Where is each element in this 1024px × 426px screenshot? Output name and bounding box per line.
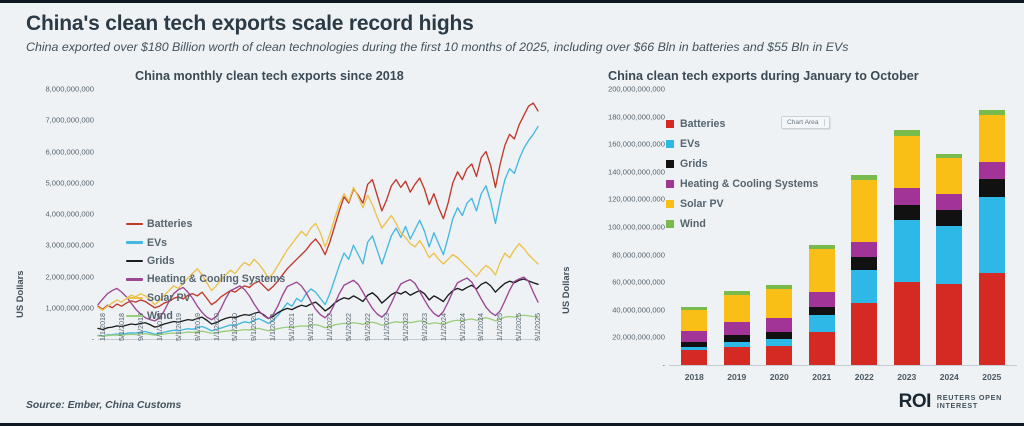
bar-segment-heating-cooling-systems[interactable] bbox=[979, 162, 1005, 179]
left-y-tick: 6,000,000,000 bbox=[22, 147, 94, 156]
bar-segment-batteries[interactable] bbox=[724, 347, 750, 365]
left-legend: BatteriesEVsGridsHeating & Cooling Syste… bbox=[126, 215, 285, 325]
legend-line-swatch-icon bbox=[126, 241, 143, 243]
legend-color-swatch-icon bbox=[666, 200, 674, 208]
roi-tagline-line2: INTEREST bbox=[937, 402, 1002, 411]
bar-segment-solar-pv[interactable] bbox=[979, 115, 1005, 162]
bar-segment-heating-cooling-systems[interactable] bbox=[809, 292, 835, 307]
legend-item-evs[interactable]: EVs bbox=[666, 134, 818, 154]
left-x-tick: 9/1/2022 bbox=[363, 313, 372, 341]
left-x-axis: 1/1/20185/1/20189/1/20181/1/20195/1/2019… bbox=[98, 341, 538, 401]
bar-segment-solar-pv[interactable] bbox=[936, 158, 962, 194]
right-y-tick: 180,000,000,000 bbox=[555, 112, 665, 121]
left-x-tick: 1/1/2023 bbox=[382, 313, 391, 341]
right-y-tick: 140,000,000,000 bbox=[555, 167, 665, 176]
right-x-tick: 2019 bbox=[727, 372, 746, 382]
bar-segment-solar-pv[interactable] bbox=[724, 295, 750, 323]
left-axis-baseline bbox=[98, 339, 538, 340]
bar-segment-batteries[interactable] bbox=[681, 350, 707, 365]
left-x-tick: 9/1/2021 bbox=[306, 313, 315, 341]
bar-segment-evs[interactable] bbox=[809, 315, 835, 332]
legend-label: Grids bbox=[680, 158, 708, 170]
left-x-tick: 9/1/2024 bbox=[476, 313, 485, 341]
legend-label: Wind bbox=[147, 310, 173, 322]
bar-segment-wind[interactable] bbox=[724, 291, 750, 295]
roi-wordmark: ROI bbox=[899, 391, 931, 413]
right-x-tick: 2023 bbox=[897, 372, 916, 382]
right-y-axis: -20,000,000,00040,000,000,00060,000,000,… bbox=[555, 89, 665, 365]
right-x-axis: 20182019202020212022202320242025 bbox=[673, 368, 1013, 390]
legend-label: Heating & Cooling Systems bbox=[147, 273, 285, 285]
left-x-tick: 5/1/2025 bbox=[514, 313, 523, 341]
bar-segment-wind[interactable] bbox=[766, 285, 792, 289]
bar-segment-heating-cooling-systems[interactable] bbox=[936, 194, 962, 211]
bar-segment-batteries[interactable] bbox=[894, 282, 920, 365]
bar-segment-grids[interactable] bbox=[681, 342, 707, 348]
left-x-tick: 5/1/2023 bbox=[401, 313, 410, 341]
legend-color-swatch-icon bbox=[666, 120, 674, 128]
legend-item-batteries[interactable]: Batteries bbox=[126, 215, 285, 233]
left-x-tick: 1/1/2025 bbox=[495, 313, 504, 341]
left-x-tick: 5/1/2021 bbox=[287, 313, 296, 341]
legend-label: EVs bbox=[680, 138, 700, 150]
left-x-tick: 1/1/2022 bbox=[325, 313, 334, 341]
bar-segment-evs[interactable] bbox=[766, 339, 792, 346]
left-x-tick: 5/1/2018 bbox=[117, 313, 126, 341]
right-y-tick: 80,000,000,000 bbox=[555, 250, 665, 259]
infographic-frame: China's clean tech exports scale record … bbox=[0, 0, 1024, 426]
legend-item-grids[interactable]: Grids bbox=[126, 252, 285, 270]
bar-segment-grids[interactable] bbox=[894, 205, 920, 220]
legend-color-swatch-icon bbox=[666, 140, 674, 148]
bar-segment-wind[interactable] bbox=[936, 154, 962, 158]
bar-segment-heating-cooling-systems[interactable] bbox=[724, 322, 750, 334]
left-x-tick: 1/1/2024 bbox=[439, 313, 448, 341]
bar-segment-grids[interactable] bbox=[766, 332, 792, 339]
bar-segment-grids[interactable] bbox=[724, 335, 750, 342]
source-note: Source: Ember, China Customs bbox=[26, 400, 181, 411]
roi-tagline: REUTERS OPEN INTEREST bbox=[937, 394, 1002, 411]
right-y-tick: 60,000,000,000 bbox=[555, 278, 665, 287]
right-y-tick: 100,000,000,000 bbox=[555, 223, 665, 232]
bar-segment-wind[interactable] bbox=[681, 307, 707, 310]
legend-item-solar-pv[interactable]: Solar PV bbox=[126, 289, 285, 307]
bar-segment-evs[interactable] bbox=[936, 226, 962, 284]
bar-segment-evs[interactable] bbox=[681, 347, 707, 350]
right-axis-baseline bbox=[669, 365, 1017, 366]
right-chart-title: China clean tech exports during January … bbox=[608, 69, 919, 83]
left-x-tick: 9/1/2023 bbox=[420, 313, 429, 341]
bar-segment-grids[interactable] bbox=[936, 210, 962, 225]
bar-segment-evs[interactable] bbox=[851, 270, 877, 303]
legend-label: Batteries bbox=[680, 118, 725, 130]
right-y-tick: 120,000,000,000 bbox=[555, 195, 665, 204]
legend-color-swatch-icon bbox=[666, 180, 674, 188]
legend-label: EVs bbox=[147, 237, 167, 249]
bar-segment-evs[interactable] bbox=[979, 197, 1005, 273]
bar-segment-batteries[interactable] bbox=[851, 303, 877, 365]
left-chart: US Dollars -1,000,000,0002,000,000,0003,… bbox=[0, 89, 545, 389]
left-y-tick: 2,000,000,000 bbox=[22, 272, 94, 281]
left-chart-title: China monthly clean tech exports since 2… bbox=[135, 69, 404, 83]
bar-segment-heating-cooling-systems[interactable] bbox=[894, 188, 920, 205]
bar-segment-heating-cooling-systems[interactable] bbox=[766, 318, 792, 332]
bar-segment-batteries[interactable] bbox=[809, 332, 835, 365]
bar-segment-wind[interactable] bbox=[809, 245, 835, 249]
left-x-tick: 5/1/2024 bbox=[458, 313, 467, 341]
right-x-tick: 2020 bbox=[770, 372, 789, 382]
left-x-tick: 9/1/2025 bbox=[533, 313, 542, 341]
left-y-tick: 4,000,000,000 bbox=[22, 210, 94, 219]
legend-line-swatch-icon bbox=[126, 260, 143, 262]
legend-color-swatch-icon bbox=[666, 160, 674, 168]
header: China's clean tech exports scale record … bbox=[26, 11, 1014, 55]
bar-2022[interactable] bbox=[851, 89, 877, 365]
bar-segment-batteries[interactable] bbox=[936, 284, 962, 365]
right-y-tick: 20,000,000,000 bbox=[555, 333, 665, 342]
right-y-tick: 160,000,000,000 bbox=[555, 140, 665, 149]
left-y-tick: 7,000,000,000 bbox=[22, 116, 94, 125]
bar-segment-evs[interactable] bbox=[724, 342, 750, 348]
bar-segment-solar-pv[interactable] bbox=[894, 136, 920, 188]
legend-item-wind[interactable]: Wind bbox=[126, 307, 285, 325]
right-y-tick: - bbox=[555, 361, 665, 370]
page-subtitle: China exported over $180 Billion worth o… bbox=[26, 40, 1014, 55]
page-title: China's clean tech exports scale record … bbox=[26, 11, 1014, 37]
legend-label: Solar PV bbox=[680, 198, 724, 210]
left-y-tick: 8,000,000,000 bbox=[22, 85, 94, 94]
roi-logo: ROI REUTERS OPEN INTEREST bbox=[899, 391, 1002, 413]
bar-2023[interactable] bbox=[894, 89, 920, 365]
left-y-tick: - bbox=[22, 335, 94, 344]
bar-segment-wind[interactable] bbox=[851, 175, 877, 181]
bar-segment-evs[interactable] bbox=[894, 220, 920, 282]
bar-segment-heating-cooling-systems[interactable] bbox=[851, 242, 877, 257]
left-x-tick: 5/1/2022 bbox=[344, 313, 353, 341]
legend-line-swatch-icon bbox=[126, 223, 143, 225]
legend-line-swatch-icon bbox=[126, 297, 143, 299]
right-x-tick: 2021 bbox=[812, 372, 831, 382]
legend-label: Solar PV bbox=[147, 292, 191, 304]
legend-label: Grids bbox=[147, 255, 175, 267]
legend-item-solar-pv[interactable]: Solar PV bbox=[666, 194, 818, 214]
bar-segment-solar-pv[interactable] bbox=[809, 249, 835, 292]
legend-label: Batteries bbox=[147, 218, 192, 230]
right-chart: US Dollars -20,000,000,00040,000,000,000… bbox=[545, 89, 1024, 389]
left-y-axis: -1,000,000,0002,000,000,0003,000,000,000… bbox=[22, 89, 94, 339]
bar-2025[interactable] bbox=[979, 89, 1005, 365]
right-y-tick: 200,000,000,000 bbox=[555, 85, 665, 94]
bar-segment-solar-pv[interactable] bbox=[681, 310, 707, 331]
bar-segment-grids[interactable] bbox=[979, 179, 1005, 197]
legend-label: Wind bbox=[680, 218, 706, 230]
right-y-tick: 40,000,000,000 bbox=[555, 305, 665, 314]
legend-line-swatch-icon bbox=[126, 278, 143, 280]
bar-segment-heating-cooling-systems[interactable] bbox=[681, 331, 707, 342]
left-x-tick: 1/1/2018 bbox=[98, 313, 107, 341]
right-x-tick: 2018 bbox=[685, 372, 704, 382]
legend-item-grids[interactable]: Grids bbox=[666, 154, 818, 174]
bar-segment-wind[interactable] bbox=[979, 110, 1005, 116]
chart-area-tooltip: Chart Area bbox=[781, 116, 830, 129]
legend-item-heating-cooling-systems[interactable]: Heating & Cooling Systems bbox=[126, 270, 285, 288]
right-x-tick: 2022 bbox=[855, 372, 874, 382]
bar-segment-batteries[interactable] bbox=[766, 346, 792, 365]
bar-segment-solar-pv[interactable] bbox=[766, 289, 792, 318]
bar-segment-batteries[interactable] bbox=[979, 273, 1005, 365]
right-legend: BatteriesEVsGridsHeating & Cooling Syste… bbox=[666, 114, 818, 234]
left-y-tick: 5,000,000,000 bbox=[22, 178, 94, 187]
legend-color-swatch-icon bbox=[666, 220, 674, 228]
legend-line-swatch-icon bbox=[126, 315, 143, 317]
bar-segment-grids[interactable] bbox=[851, 257, 877, 269]
right-x-tick: 2025 bbox=[982, 372, 1001, 382]
legend-label: Heating & Cooling Systems bbox=[680, 178, 818, 190]
bar-segment-solar-pv[interactable] bbox=[851, 180, 877, 242]
left-y-tick: 3,000,000,000 bbox=[22, 241, 94, 250]
left-y-tick: 1,000,000,000 bbox=[22, 303, 94, 312]
legend-item-wind[interactable]: Wind bbox=[666, 214, 818, 234]
bar-segment-grids[interactable] bbox=[809, 307, 835, 315]
bar-2024[interactable] bbox=[936, 89, 962, 365]
legend-item-evs[interactable]: EVs bbox=[126, 233, 285, 251]
bar-segment-wind[interactable] bbox=[894, 130, 920, 136]
right-x-tick: 2024 bbox=[940, 372, 959, 382]
legend-item-heating-cooling-systems[interactable]: Heating & Cooling Systems bbox=[666, 174, 818, 194]
